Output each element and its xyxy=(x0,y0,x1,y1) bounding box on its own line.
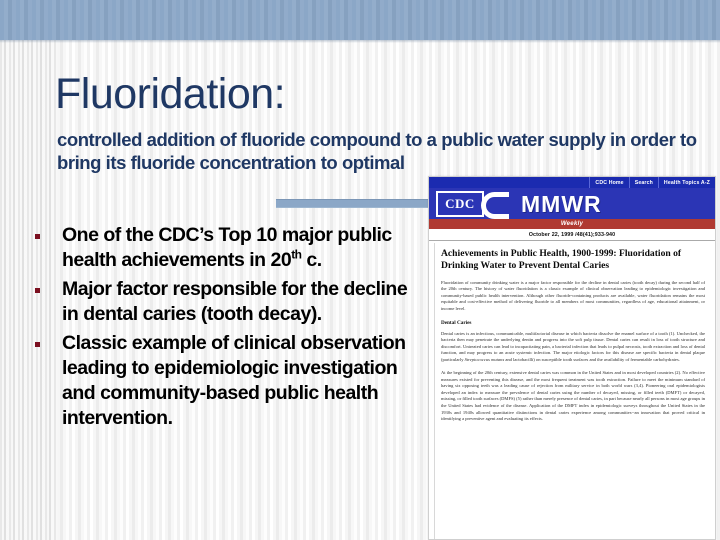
mmwr-paragraph-1: Fluoridation of community drinking water… xyxy=(441,280,705,313)
top-decorative-band xyxy=(0,0,720,40)
mmwr-document-image: CDC Home Search Health Topics A-Z CDC MM… xyxy=(428,176,716,540)
cdc-logo: CDC xyxy=(436,191,484,217)
mmwr-article-body: Achievements in Public Health, 1900-1999… xyxy=(429,241,715,423)
slide-subtitle: controlled addition of fluoride compound… xyxy=(57,128,697,174)
bullet-square-icon xyxy=(35,342,40,347)
mmwr-frequency-banner: Weekly xyxy=(429,219,715,229)
mmwr-issue-line: October 22, 1999 /48(41);933-940 xyxy=(429,229,715,241)
list-item: One of the CDC’s Top 10 major public hea… xyxy=(26,223,414,273)
list-item: Classic example of clinical observation … xyxy=(26,331,414,431)
title-divider-rule xyxy=(276,199,432,208)
cdc-site-navbar: CDC Home Search Health Topics A-Z xyxy=(429,177,715,188)
nav-health-topics: Health Topics A-Z xyxy=(658,177,715,188)
cdc-swoosh-icon xyxy=(481,192,509,219)
nav-search: Search xyxy=(629,177,658,188)
nav-cdc-home: CDC Home xyxy=(589,177,628,188)
bullet-text: One of the CDC’s Top 10 major public hea… xyxy=(62,223,414,273)
mmwr-paragraph-2: Dental caries is an infectious, communic… xyxy=(441,331,705,364)
mmwr-article-title: Achievements in Public Health, 1900-1999… xyxy=(441,248,705,273)
bullet-superscript: th xyxy=(291,248,301,262)
mmwr-paragraph-2-b: and lactobacilli) on susceptible tooth s… xyxy=(504,357,680,362)
bullet-text-main: Major factor responsible for the decline… xyxy=(62,278,407,325)
mmwr-subheading: Dental Caries xyxy=(441,320,705,326)
slide-canvas: Fluoridation: controlled addition of flu… xyxy=(0,0,720,540)
bullet-list: One of the CDC’s Top 10 major public hea… xyxy=(26,223,414,435)
bullet-text-main: One of the CDC’s Top 10 major public hea… xyxy=(62,224,392,271)
top-band-shadow xyxy=(0,40,720,43)
bullet-text: Major factor responsible for the decline… xyxy=(62,277,414,327)
list-item: Major factor responsible for the decline… xyxy=(26,277,414,327)
bullet-square-icon xyxy=(35,234,40,239)
bullet-text: Classic example of clinical observation … xyxy=(62,331,414,431)
mmwr-paragraph-3: At the beginning of the 20th century, ex… xyxy=(441,370,705,422)
mmwr-masthead: CDC MMWR xyxy=(429,188,715,219)
bullet-square-icon xyxy=(35,288,40,293)
bullet-text-main: Classic example of clinical observation … xyxy=(62,332,406,429)
mmwr-wordmark: MMWR xyxy=(521,191,602,218)
mmwr-paragraph-2-italic: Streptococcus mutans xyxy=(465,357,505,362)
bullet-text-tail: c. xyxy=(302,249,322,271)
slide-title: Fluoridation: xyxy=(55,70,285,118)
